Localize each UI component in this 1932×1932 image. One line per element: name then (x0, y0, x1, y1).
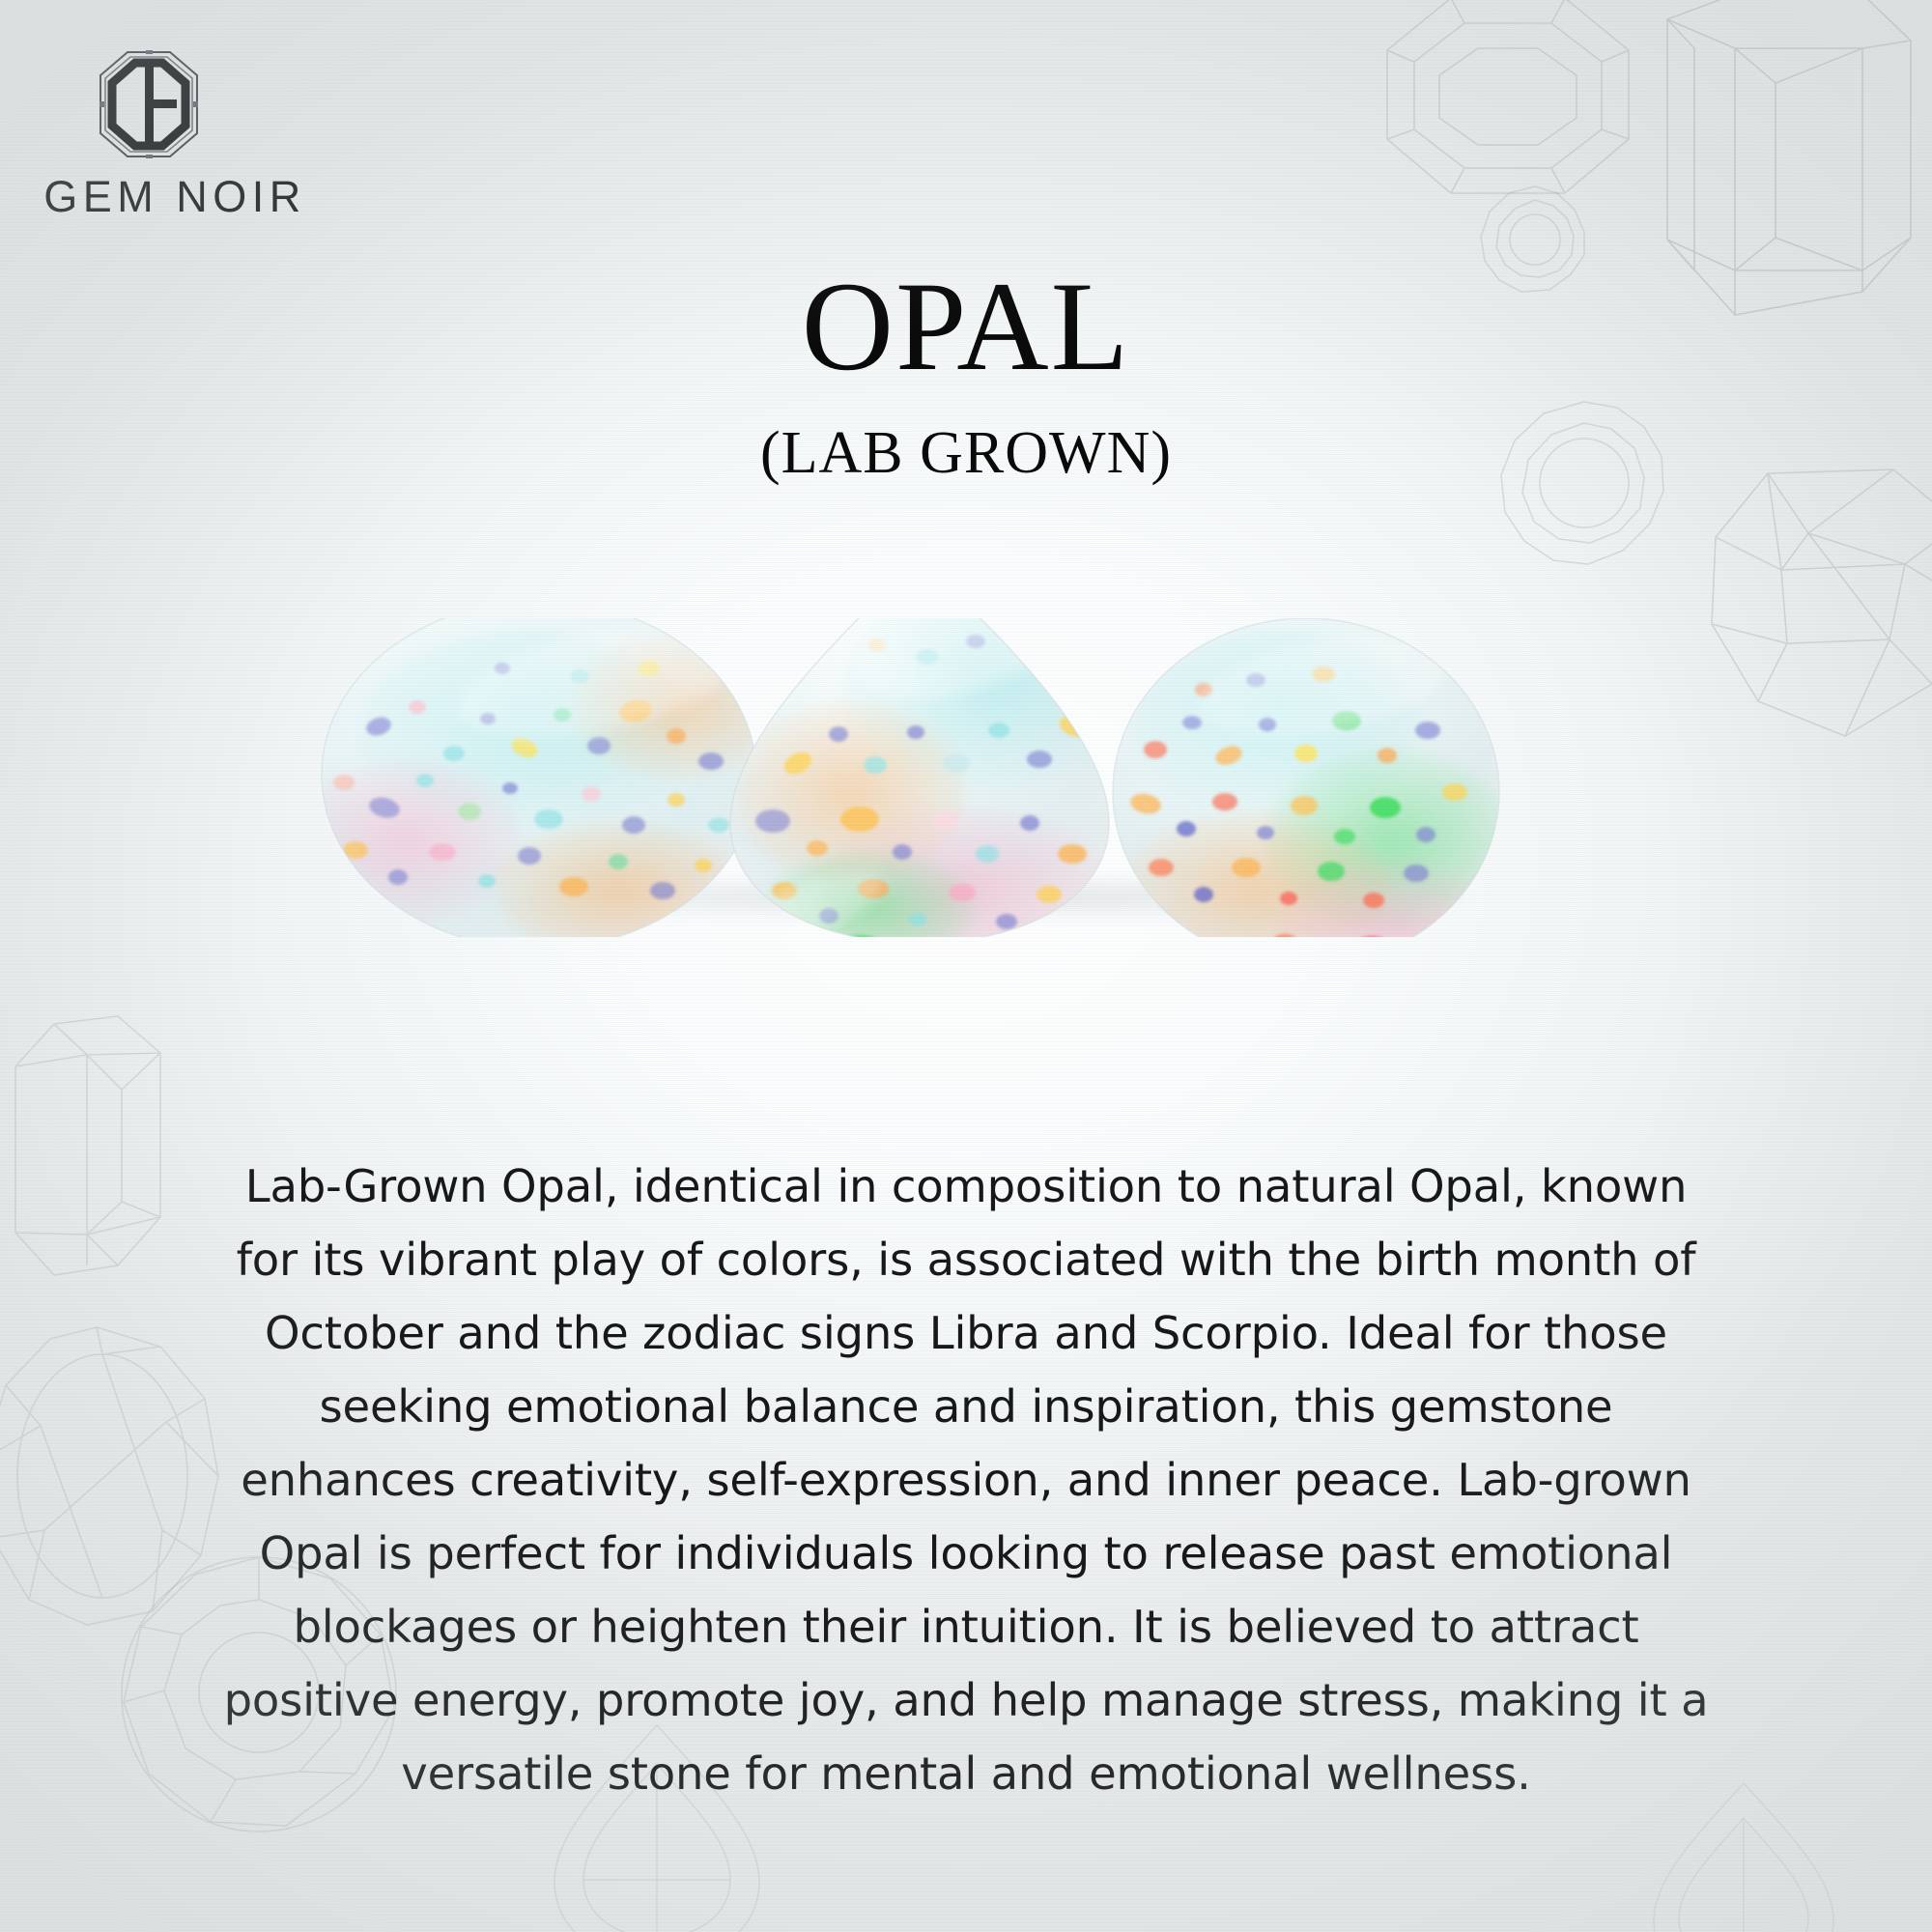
pear-opal-center (730, 618, 1130, 937)
description-line: blockages or heighten their intuition. I… (293, 1601, 1638, 1653)
page-title: OPAL (0, 263, 1932, 390)
description-line: seeking emotional balance and inspiratio… (320, 1380, 1613, 1433)
description-line: October and the zodiac signs Libra and S… (265, 1307, 1667, 1359)
description-line: for its vibrant play of colors, is assoc… (237, 1234, 1696, 1286)
heading-block: OPAL (LAB GROWN) (0, 263, 1932, 483)
description-line: Opal is perfect for individuals looking … (260, 1527, 1673, 1579)
poster-canvas: GEM NOIR OPAL (LAB GROWN) (0, 0, 1932, 1932)
deco-baguette-gem-left (0, 1012, 191, 1302)
description-line: positive energy, promote joy, and help m… (224, 1674, 1709, 1726)
description-line: Lab-Grown Opal, identical in composition… (245, 1160, 1688, 1212)
gem-octagon-monogram-icon (99, 50, 199, 158)
description-line: enhances creativity, self-expression, an… (241, 1454, 1691, 1506)
page-subtitle: (LAB GROWN) (0, 423, 1932, 483)
brand-logo[interactable]: GEM NOIR (35, 50, 354, 222)
deco-octagon-gem-top-right (1383, 0, 1633, 207)
gemstone-cluster (0, 618, 1932, 937)
description-line: versatile stone for mental and emotional… (401, 1747, 1530, 1800)
product-description: Lab-Grown Opal, identical in composition… (174, 1150, 1758, 1810)
brand-name: GEM NOIR (35, 172, 315, 222)
